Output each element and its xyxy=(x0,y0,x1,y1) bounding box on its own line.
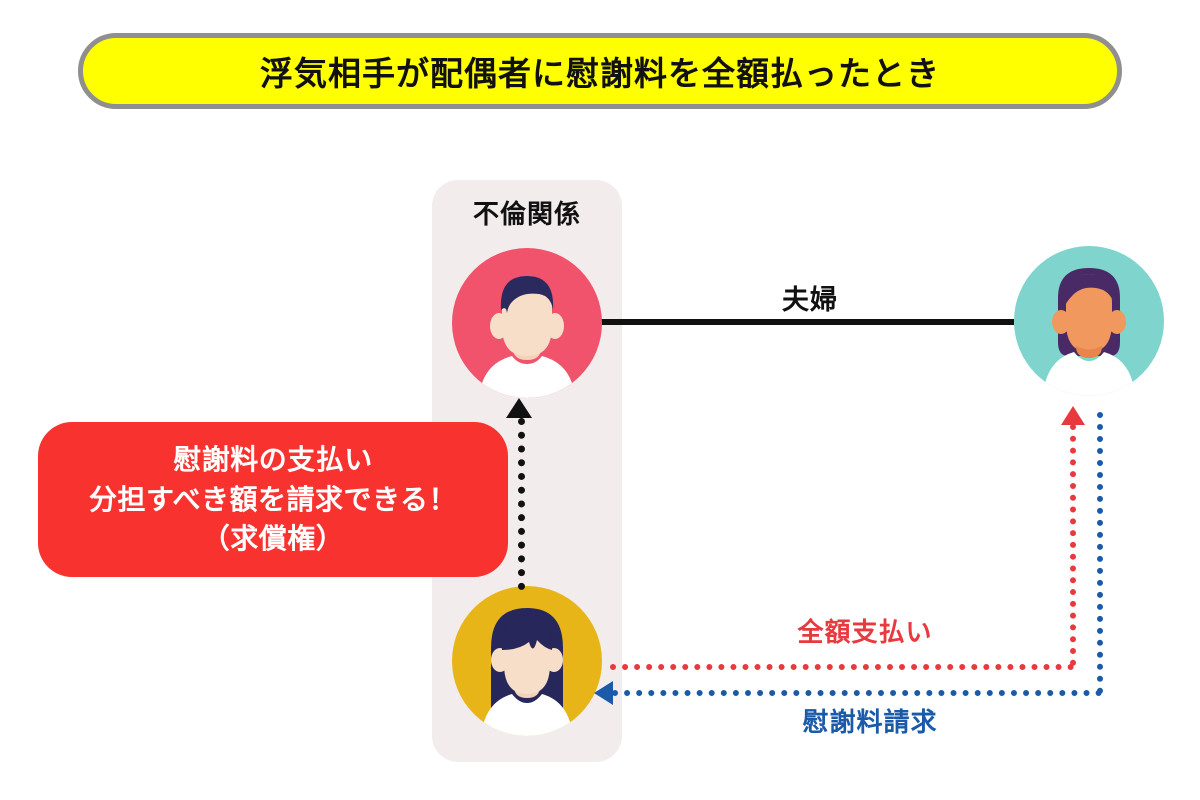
avatar-affair-partner-male xyxy=(452,248,602,398)
alimony-claim-arrow-horizontal xyxy=(612,690,1102,696)
callout-line-3: （求償権） xyxy=(202,519,345,559)
affair-relationship-label: 不倫関係 xyxy=(432,194,622,231)
alimony-claim-label: 慰謝料請求 xyxy=(760,702,980,739)
male-avatar-icon xyxy=(452,248,602,398)
reimbursement-arrow-line xyxy=(518,418,525,590)
avatar-claimant-female xyxy=(452,586,602,736)
full-payment-label: 全額支払い xyxy=(760,612,970,649)
avatar-spouse-female xyxy=(1014,246,1164,396)
couple-relationship-label: 夫婦 xyxy=(735,278,885,317)
alimony-claim-arrow-head-icon xyxy=(594,681,613,705)
callout-line-1: 慰謝料の支払い xyxy=(173,440,373,480)
reimbursement-callout: 慰謝料の支払い 分担すべき額を請求できる！ （求償権） xyxy=(38,422,508,577)
female-avatar-long-hair-icon xyxy=(452,586,602,736)
title-banner: 浮気相手が配偶者に慰謝料を全額払ったとき xyxy=(78,33,1122,109)
full-payment-arrow-vertical xyxy=(1070,424,1076,666)
page-title: 浮気相手が配偶者に慰謝料を全額払ったとき xyxy=(260,47,940,95)
full-payment-arrow-head-icon xyxy=(1061,406,1085,425)
reimbursement-arrow-head-icon xyxy=(506,398,532,418)
female-avatar-icon xyxy=(1014,246,1164,396)
full-payment-arrow-horizontal xyxy=(610,664,1074,670)
alimony-claim-arrow-vertical xyxy=(1097,412,1103,694)
couple-relationship-line xyxy=(600,319,1014,325)
callout-line-2: 分担すべき額を請求できる！ xyxy=(89,480,457,520)
